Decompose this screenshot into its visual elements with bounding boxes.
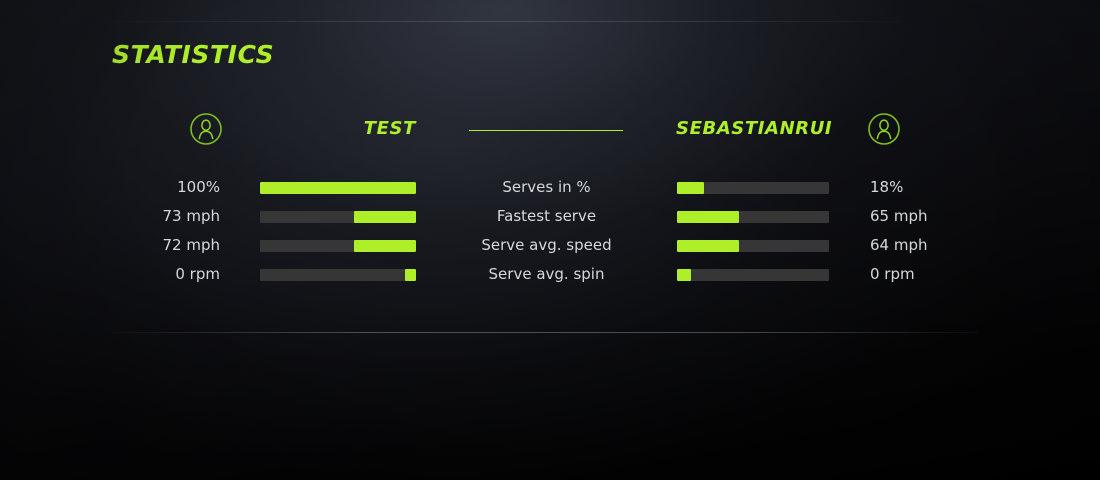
- stat-value-right: 0 rpm: [870, 265, 978, 283]
- stat-bar-right: [677, 240, 829, 252]
- stat-bar-left-fill: [354, 211, 416, 223]
- person-circle-icon[interactable]: [867, 112, 901, 146]
- players-header: TEST SEBASTIANRUI: [112, 112, 978, 148]
- page-title: STATISTICS: [112, 40, 274, 69]
- top-divider: [112, 21, 902, 22]
- stat-value-left: 72 mph: [112, 236, 220, 254]
- stat-bar-left-fill: [260, 182, 416, 194]
- stat-bar-right-fill: [677, 211, 739, 223]
- stat-label: Serve avg. speed: [424, 236, 669, 254]
- player-name-left[interactable]: TEST: [262, 118, 416, 139]
- stat-label: Serve avg. spin: [424, 265, 669, 283]
- stat-bar-right-fill: [677, 269, 691, 281]
- player-name-right[interactable]: SEBASTIANRUI: [676, 118, 830, 139]
- stat-bar-left-fill: [405, 269, 416, 281]
- stat-bar-left: [260, 240, 416, 252]
- stat-bar-left: [260, 269, 416, 281]
- statistics-panel: STATISTICS TEST SEBASTIANRUI 100%: [0, 0, 1100, 480]
- stat-bar-right-fill: [677, 240, 739, 252]
- stat-label: Serves in %: [424, 178, 669, 196]
- stat-value-left: 73 mph: [112, 207, 220, 225]
- stat-bar-left: [260, 182, 416, 194]
- stat-bar-left-fill: [354, 240, 416, 252]
- stat-bar-right: [677, 269, 829, 281]
- stat-bar-right: [677, 211, 829, 223]
- stat-row: 72 mph Serve avg. speed 64 mph: [112, 234, 978, 263]
- stat-value-right: 18%: [870, 178, 978, 196]
- stat-value-right: 65 mph: [870, 207, 978, 225]
- stat-label: Fastest serve: [424, 207, 669, 225]
- stat-row: 73 mph Fastest serve 65 mph: [112, 205, 978, 234]
- stat-bar-right: [677, 182, 829, 194]
- stat-value-left: 100%: [112, 178, 220, 196]
- stat-bar-left: [260, 211, 416, 223]
- player-name-divider: [469, 130, 623, 131]
- stat-bar-right-fill: [677, 182, 704, 194]
- person-circle-icon[interactable]: [189, 112, 223, 146]
- stat-value-left: 0 rpm: [112, 265, 220, 283]
- stat-row: 0 rpm Serve avg. spin 0 rpm: [112, 263, 978, 292]
- stat-value-right: 64 mph: [870, 236, 978, 254]
- stat-row: 100% Serves in % 18%: [112, 176, 978, 205]
- bottom-divider: [112, 332, 978, 333]
- stats-table: 100% Serves in % 18% 73 mph Fastest serv…: [112, 176, 978, 292]
